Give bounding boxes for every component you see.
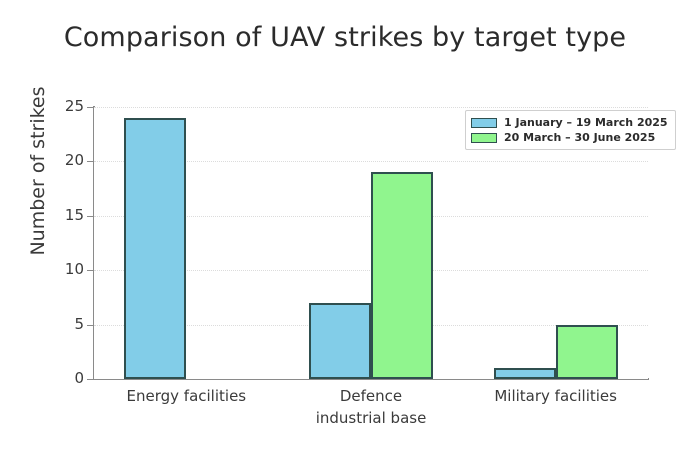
bar-1-0[interactable]	[309, 303, 371, 379]
y-tick-label-5: 5	[44, 317, 84, 332]
bar-2-0[interactable]	[494, 368, 556, 379]
x-category-label-1: Defenceindustrial base	[281, 386, 461, 430]
y-tick-mark-0	[87, 379, 93, 380]
y-tick-mark-25	[87, 107, 93, 108]
bar-2-1[interactable]	[556, 325, 618, 379]
legend-swatch-icon	[471, 118, 497, 128]
y-tick-mark-15	[87, 216, 93, 217]
bar-0-0[interactable]	[124, 118, 186, 379]
legend-item-0[interactable]: 1 January – 19 March 2025	[471, 115, 668, 130]
x-category-label-2: Military facilities	[466, 386, 646, 408]
legend-swatch-icon	[471, 133, 497, 143]
x-category-label-line: Military facilities	[466, 386, 646, 408]
chart-legend[interactable]: 1 January – 19 March 202520 March – 30 J…	[465, 110, 676, 150]
x-category-label-line: industrial base	[281, 408, 461, 430]
y-tick-mark-20	[87, 161, 93, 162]
y-tick-label-25: 25	[44, 99, 84, 114]
x-category-label-line: Defence	[281, 386, 461, 408]
y-tick-label-0: 0	[44, 371, 84, 386]
chart-title: Comparison of UAV strikes by target type	[0, 22, 690, 53]
gridline-25	[94, 107, 648, 108]
x-category-label-0: Energy facilities	[96, 386, 276, 408]
x-category-label-line: Energy facilities	[96, 386, 276, 408]
y-tick-mark-5	[87, 325, 93, 326]
y-tick-label-10: 10	[44, 262, 84, 277]
legend-label: 20 March – 30 June 2025	[504, 131, 655, 144]
bar-1-1[interactable]	[371, 172, 433, 379]
chart-figure: Comparison of UAV strikes by target type…	[0, 0, 690, 456]
y-tick-label-20: 20	[44, 153, 84, 168]
y-axis-tick-labels: 0510152025	[40, 0, 84, 456]
legend-label: 1 January – 19 March 2025	[504, 116, 668, 129]
legend-item-1[interactable]: 20 March – 30 June 2025	[471, 130, 668, 145]
y-tick-mark-10	[87, 270, 93, 271]
y-tick-label-15: 15	[44, 208, 84, 223]
